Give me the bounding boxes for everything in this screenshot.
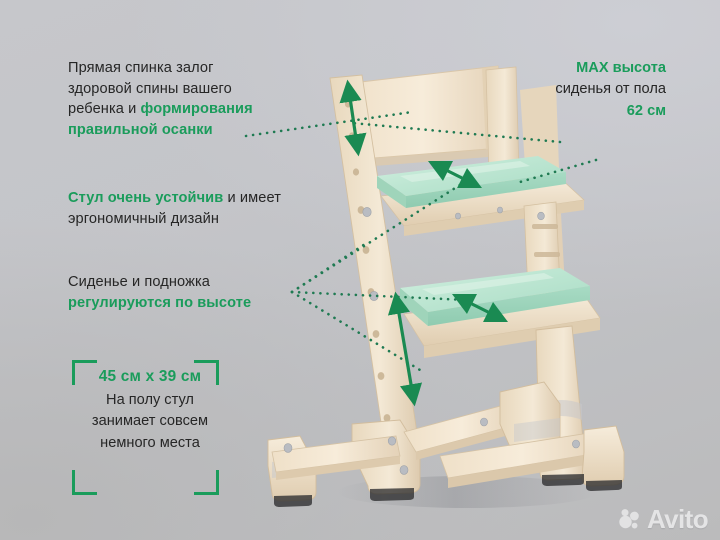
annotation-footprint: 45 см х 39 см На полу стул занимает совс… (80, 366, 220, 454)
footprint-dimensions: 45 см х 39 см (80, 366, 220, 388)
avito-dots-icon (618, 507, 642, 531)
avito-watermark: Avito (618, 506, 708, 532)
bracket-corner-bottom-right (194, 470, 219, 495)
adjust-line-2-accent: регулируются по высоте (68, 295, 251, 311)
footprint-line-3: немного места (100, 435, 200, 451)
posture-line-3-plain: ребенка и (68, 101, 141, 117)
posture-line-4-accent: правильной осанки (68, 122, 213, 138)
stability-plain: и имеет (223, 190, 281, 206)
bracket-corner-bottom-left (72, 470, 97, 495)
arrow-seat-depth (432, 163, 478, 186)
stability-accent: Стул очень устойчив (68, 190, 223, 206)
max-height-line-2: сиденья от пола (555, 81, 666, 97)
annotation-posture: Прямая спинка залог здоровой спины вашег… (68, 58, 318, 141)
arrow-seat-to-footrest (396, 296, 414, 402)
annotation-max-height: MAX высота сиденья от пола 62 см (466, 58, 666, 122)
arrow-footrest-depth (456, 296, 504, 320)
footprint-line-1: На полу стул (106, 392, 194, 408)
footprint-line-2: занимает совсем (92, 413, 208, 429)
stability-line-2: эргономичный дизайн (68, 211, 219, 227)
leader-adjust-foot (292, 292, 466, 300)
leader-max-height (352, 123, 560, 142)
leader-seat-right (520, 160, 596, 182)
max-height-value: 62 см (466, 101, 666, 122)
annotation-adjustable: Сиденье и подножка регулируются по высот… (68, 272, 313, 313)
posture-line-2: здоровой спины вашего (68, 81, 232, 97)
product-infographic: Прямая спинка залог здоровой спины вашег… (0, 0, 720, 540)
arrow-backrest-height (348, 84, 358, 152)
posture-line-1: Прямая спинка залог (68, 60, 214, 76)
posture-line-3-accent: формирования (141, 101, 253, 117)
avito-wordmark: Avito (647, 506, 708, 532)
adjust-line-1: Сиденье и подножка (68, 274, 210, 290)
max-height-label: MAX высота (576, 60, 666, 76)
annotation-stability: Стул очень устойчив и имеет эргономичный… (68, 188, 328, 229)
